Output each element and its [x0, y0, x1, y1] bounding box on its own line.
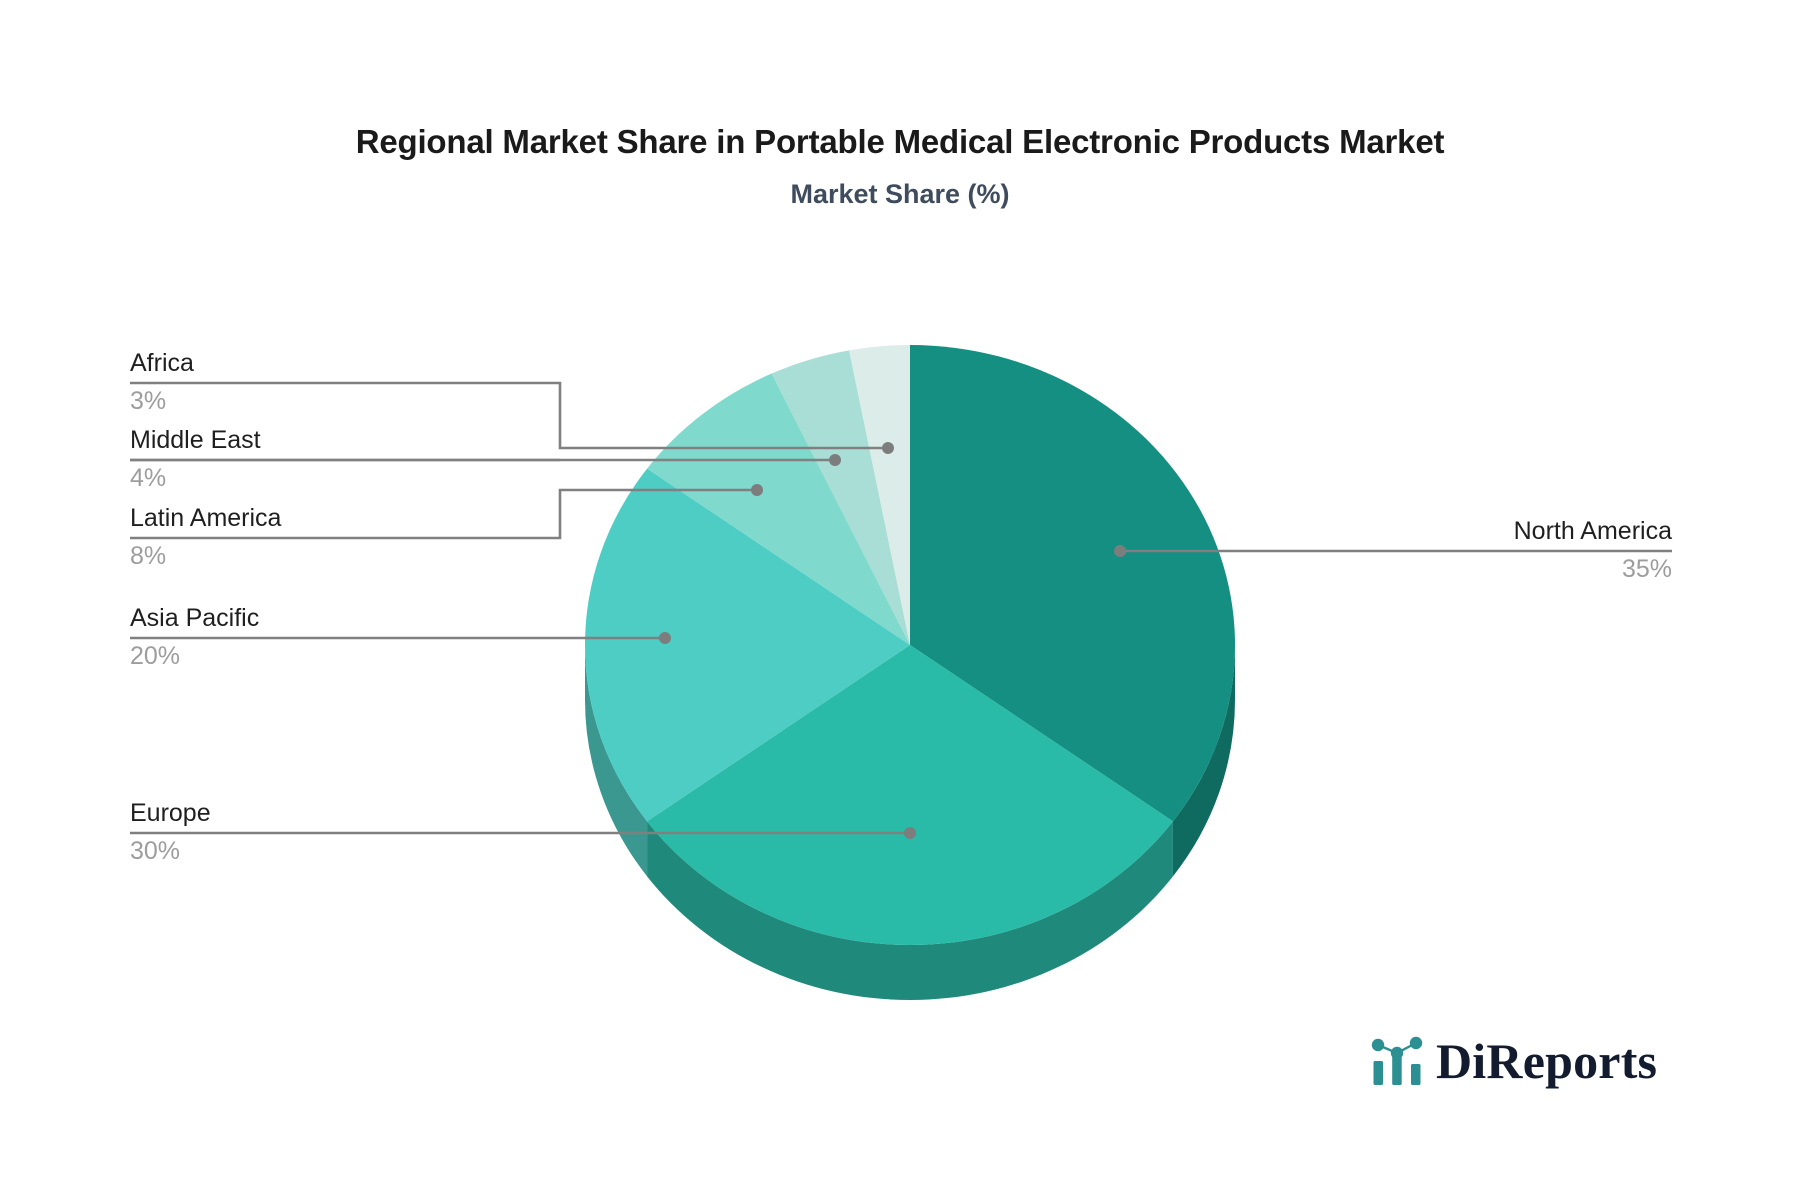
callout-asia-pacific-value: 20%	[130, 637, 560, 672]
callout-europe-value: 30%	[130, 832, 560, 867]
callout-africa-category: Africa	[130, 348, 560, 382]
chart-canvas: Regional Market Share in Portable Medica…	[0, 0, 1800, 1196]
pie-top-face	[585, 345, 1235, 945]
bar-chart-trend-icon	[1368, 1032, 1426, 1090]
callout-north-america[interactable]: North America 35%	[1242, 516, 1672, 586]
callout-asia-pacific[interactable]: Asia Pacific 20%	[130, 603, 560, 673]
callout-north-america-value: 35%	[1242, 550, 1672, 585]
callout-middle-east-category: Middle East	[130, 425, 560, 459]
callout-latin-america-value: 8%	[130, 537, 560, 572]
callout-latin-america-category: Latin America	[130, 503, 560, 537]
callout-asia-pacific-category: Asia Pacific	[130, 603, 560, 637]
leader-dot-europe	[904, 827, 916, 839]
leader-dot-latin-america	[751, 484, 763, 496]
callout-middle-east[interactable]: Middle East 4%	[130, 425, 560, 495]
callout-europe-category: Europe	[130, 798, 560, 832]
leader-dot-africa	[882, 442, 894, 454]
callout-africa[interactable]: Africa 3%	[130, 348, 560, 418]
direports-logo[interactable]: DiReports	[1368, 1032, 1657, 1090]
callout-north-america-category: North America	[1242, 516, 1672, 550]
logo-wordmark: DiReports	[1436, 1036, 1657, 1086]
callout-europe[interactable]: Europe 30%	[130, 798, 560, 868]
callout-latin-america[interactable]: Latin America 8%	[130, 503, 560, 573]
callout-middle-east-value: 4%	[130, 459, 560, 494]
callout-africa-value: 3%	[130, 382, 560, 417]
leader-dot-middle-east	[829, 454, 841, 466]
leader-dot-north-america	[1114, 545, 1126, 557]
leader-dot-asia-pacific	[659, 632, 671, 644]
pie-chart	[0, 0, 1800, 1196]
